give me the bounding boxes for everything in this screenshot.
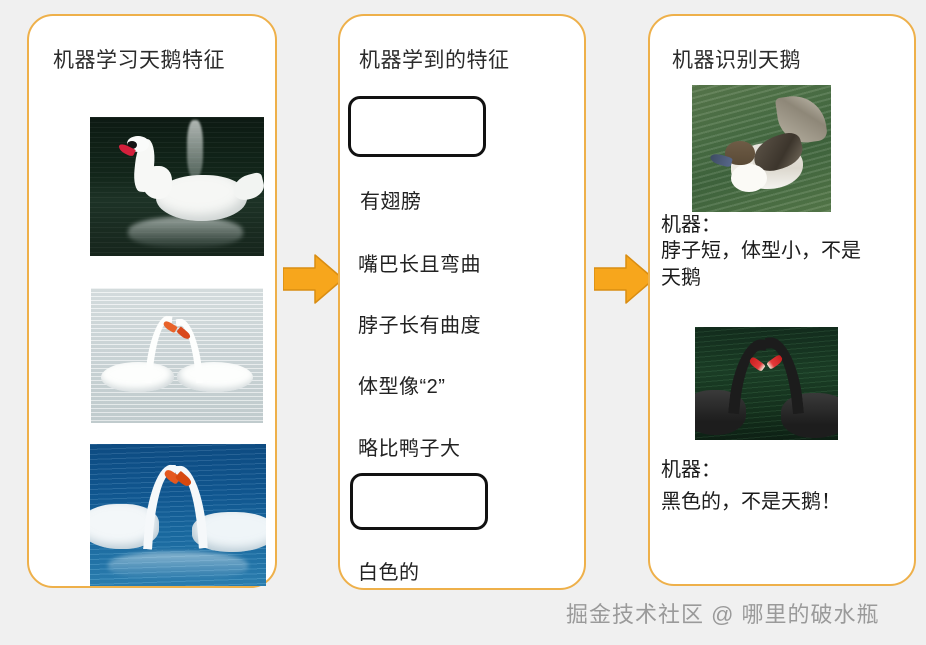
water-ripple: [91, 288, 263, 423]
duck-breast: [731, 164, 767, 192]
swan-reflection: [128, 217, 243, 248]
panel-detect-title: 机器识别天鹅: [672, 44, 801, 74]
feature-empty-box-top[interactable]: [348, 96, 486, 157]
diagram-canvas: 机器学习天鹅特征: [0, 0, 926, 645]
photo-pintail-duck-green-water: [692, 85, 831, 212]
feature-item-wings: 有翅膀: [360, 185, 422, 214]
feature-empty-box-bottom[interactable]: [350, 473, 488, 530]
watermark-text: 掘金技术社区 @ 哪里的破水瓶: [566, 597, 880, 629]
result-1-verdict: 脖子短，体型小，不是天鹅: [661, 238, 871, 292]
photo-swan-pair-heart-grey-water: [91, 288, 263, 423]
arrow-features-to-detect-icon: [594, 251, 656, 307]
feature-item-bill: 嘴巴长且弯曲: [358, 248, 481, 277]
background-swan-neck: [187, 120, 203, 178]
result-1-speaker: 机器：: [661, 208, 721, 237]
arrow-learn-to-features-icon: [283, 251, 345, 307]
feature-item-size: 略比鸭子大: [358, 432, 461, 461]
panel-features-title: 机器学到的特征: [359, 44, 510, 74]
panel-learn-title: 机器学习天鹅特征: [53, 44, 225, 74]
photo-white-swan-dark-water: [90, 117, 264, 256]
photo-black-swan-pair-heart-green-water: [695, 327, 838, 440]
panel-learn-features: 机器学习天鹅特征: [27, 14, 277, 588]
result-2-verdict: 黑色的，不是天鹅！: [661, 489, 891, 516]
result-2-speaker: 机器：: [661, 453, 721, 482]
feature-item-shape: 体型像“2”: [358, 370, 445, 399]
feature-item-color: 白色的: [358, 556, 420, 585]
photo-swan-pair-heart-blue-water: [90, 444, 266, 586]
swan-reflection: [108, 552, 249, 580]
feature-item-neck: 脖子长有曲度: [358, 309, 481, 338]
